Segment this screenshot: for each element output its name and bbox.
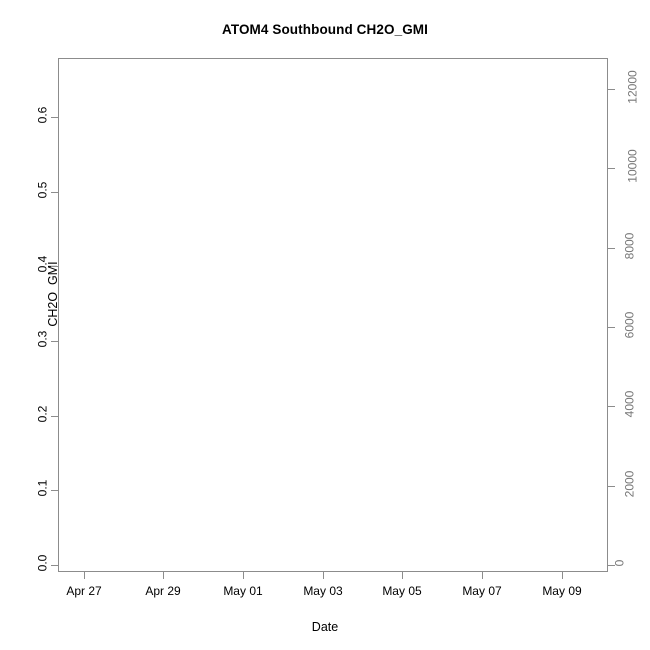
y-axis-left-tick-mark — [51, 341, 58, 342]
y-axis-right-tick-mark — [608, 486, 615, 487]
x-axis-tick-label: May 01 — [203, 584, 283, 598]
y-axis-right-tick-label: 8000 — [616, 239, 650, 253]
x-axis-tick-label: Apr 27 — [44, 584, 124, 598]
y-axis-right-tick-mark — [608, 327, 615, 328]
y-axis-left-tick-label: 0.5 — [0, 183, 51, 197]
y-axis-left-tick-label: 0.6 — [0, 108, 51, 122]
plot-frame — [58, 58, 608, 572]
x-axis-tick-label: May 03 — [283, 584, 363, 598]
y-axis-left-tick-label: 0.0 — [0, 556, 51, 570]
y-axis-right-tick-mark — [608, 168, 615, 169]
y-axis-left-tick-mark — [51, 416, 58, 417]
x-axis-tick-label: May 05 — [362, 584, 442, 598]
x-axis-tick-mark — [243, 572, 244, 579]
x-axis-tick-label: May 07 — [442, 584, 522, 598]
x-axis-tick-mark — [163, 572, 164, 579]
y-axis-left-tick-mark — [51, 192, 58, 193]
y-axis-right-tick-mark — [608, 89, 615, 90]
x-axis-tick-label: Apr 29 — [123, 584, 203, 598]
x-axis-tick-mark — [402, 572, 403, 579]
y-axis-right-tick-label: 6000 — [616, 318, 650, 332]
y-axis-left-tick-label: 0.3 — [0, 332, 51, 346]
x-axis-tick-mark — [562, 572, 563, 579]
y-axis-right-tick-label: 0 — [616, 556, 650, 570]
y-axis-left-tick-label: 0.4 — [0, 257, 51, 271]
y-axis-right-tick-label: 4000 — [616, 397, 650, 411]
x-axis-tick-mark — [323, 572, 324, 579]
x-axis-tick-mark — [84, 572, 85, 579]
y-axis-left-tick-label: 0.2 — [0, 407, 51, 421]
y-axis-left-tick-mark — [51, 490, 58, 491]
y-axis-left-tick-mark — [51, 266, 58, 267]
y-axis-left-tick-mark — [51, 565, 58, 566]
x-axis-tick-label: May 09 — [522, 584, 602, 598]
y-axis-right-tick-mark — [608, 248, 615, 249]
page-title: ATOM4 Southbound CH2O_GMI — [0, 22, 650, 37]
y-axis-right-tick-mark — [608, 406, 615, 407]
x-axis-tick-mark — [482, 572, 483, 579]
x-axis-label: Date — [0, 620, 650, 634]
y-axis-left-tick-mark — [51, 117, 58, 118]
y-axis-right-tick-label: 2000 — [616, 477, 650, 491]
y-axis-left-tick-label: 0.1 — [0, 481, 51, 495]
chart-root: ATOM4 Southbound CH2O_GMI CH2O_GMI Date … — [0, 0, 650, 650]
y-axis-right-tick-label: 12000 — [616, 80, 650, 94]
y-axis-right-tick-label: 10000 — [616, 159, 650, 173]
